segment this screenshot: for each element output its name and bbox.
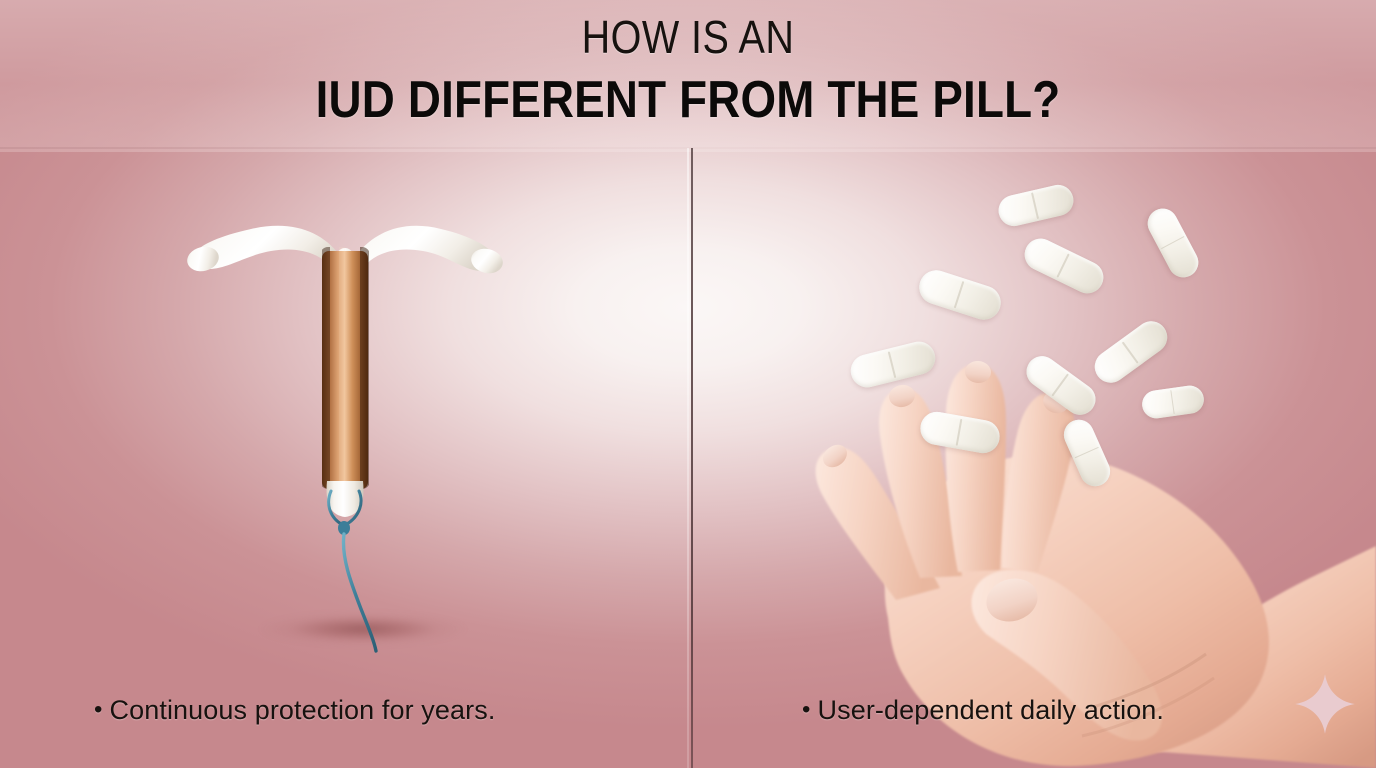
bullet-left: • (94, 696, 103, 724)
infographic-canvas: HOW IS AN IUD DIFFERENT FROM THE PILL? •… (0, 0, 1376, 768)
page-title: HOW IS AN IUD DIFFERENT FROM THE PILL? (0, 10, 1376, 130)
title-line-1: HOW IS AN (96, 10, 1279, 64)
sparkle-icon-shape (1295, 674, 1355, 734)
caption-left: •Continuous protection for years. (94, 695, 495, 726)
caption-left-text: Continuous protection for years. (110, 695, 496, 725)
finger-middle (946, 364, 1007, 572)
caption-right: •User-dependent daily action. (802, 695, 1164, 726)
sparkle-icon (1294, 673, 1356, 735)
iud-right-arm (351, 226, 495, 277)
iud-string-tail (343, 534, 376, 651)
copper-iud-illustration (175, 185, 515, 655)
caption-right-text: User-dependent daily action. (818, 695, 1165, 725)
hand-with-pills-illustration (690, 148, 1376, 768)
panel-divider-highlight (687, 148, 689, 768)
bullet-right: • (802, 696, 811, 724)
title-line-2: IUD DIFFERENT FROM THE PILL? (83, 70, 1294, 130)
